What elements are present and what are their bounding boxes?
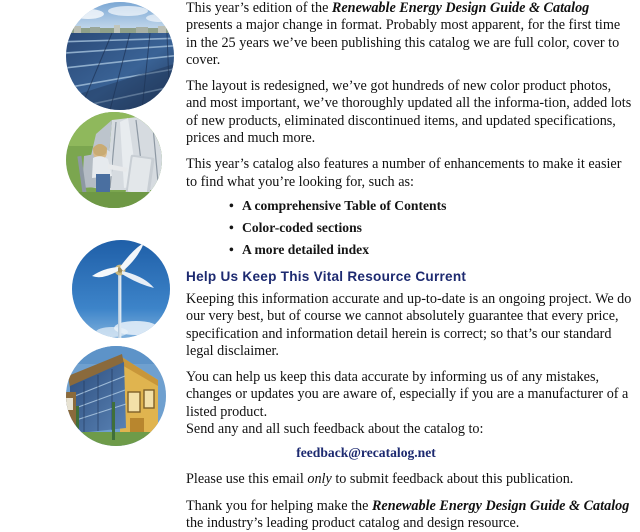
bullet-icon: •	[229, 242, 234, 258]
paragraph-intro-after: presents a major change in format. Proba…	[186, 17, 620, 68]
list-item-label: A more detailed index	[242, 242, 369, 257]
solar-array-photo	[66, 2, 174, 110]
paragraph-intro: This year’s edition of the Renewable Ene…	[186, 0, 632, 69]
paragraph-help-us: You can help us keep this data accurate …	[186, 369, 632, 421]
document-page: This year’s edition of the Renewable Ene…	[0, 0, 640, 480]
list-item: •Color-coded sections	[186, 220, 632, 236]
solar-house-photo	[66, 346, 166, 446]
paragraph-thank-you-before: Thank you for helping make the	[186, 498, 372, 514]
emphasis-only: only	[307, 471, 331, 487]
wind-turbine-photo	[72, 240, 170, 338]
camping-solar-photo	[66, 112, 162, 208]
list-item-label: Color-coded sections	[242, 220, 362, 235]
bullet-icon: •	[229, 198, 234, 214]
paragraph-thank-you: Thank you for helping make the Renewable…	[186, 498, 632, 532]
photo-rail	[0, 0, 180, 480]
paragraph-email-usage-before: Please use this email	[186, 471, 307, 487]
feedback-email-link[interactable]: feedback@recatalog.net	[296, 445, 436, 460]
email-line: feedback@recatalog.net	[186, 444, 632, 462]
paragraph-email-usage-after: to submit feedback about this publicatio…	[332, 471, 574, 487]
paragraph-layout-redesign: The layout is redesigned, we’ve got hund…	[186, 78, 632, 147]
paragraph-thank-you-after: the industry’s leading product catalog a…	[186, 515, 519, 531]
catalog-title-reference: Renewable Energy Design Guide & Catalog	[332, 0, 589, 16]
catalog-title-reference: Renewable Energy Design Guide & Catalog	[372, 498, 629, 514]
paragraph-intro-before: This year’s edition of the	[186, 0, 332, 16]
list-item: •A comprehensive Table of Contents	[186, 198, 632, 214]
paragraph-disclaimer: Keeping this information accurate and up…	[186, 291, 632, 360]
feature-list: •A comprehensive Table of Contents •Colo…	[186, 198, 632, 258]
list-item-label: A comprehensive Table of Contents	[242, 198, 446, 213]
paragraph-enhancements-lead: This year’s catalog also features a numb…	[186, 156, 632, 191]
list-item: •A more detailed index	[186, 242, 632, 258]
bullet-icon: •	[229, 220, 234, 236]
section-heading: Help Us Keep This Vital Resource Current	[186, 269, 632, 284]
article-body: This year’s edition of the Renewable Ene…	[186, 0, 632, 480]
paragraph-send-feedback: Send any and all such feedback about the…	[186, 421, 632, 438]
